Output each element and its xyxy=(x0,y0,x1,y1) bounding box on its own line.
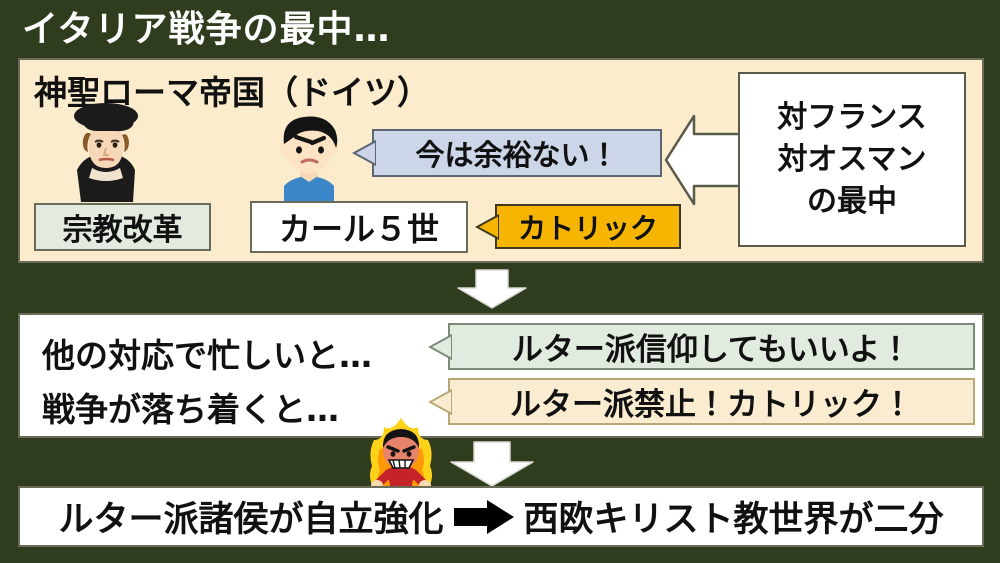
karl-v-label-box: カール５世 xyxy=(250,201,468,253)
ban-lutheranism-text: ルター派禁止！カトリック！ xyxy=(510,379,913,424)
page-title: イタリア戦争の最中… xyxy=(22,8,391,52)
ban-lutheranism-bubble: ルター派禁止！カトリック！ xyxy=(448,378,975,425)
allow-lutheranism-text: ルター派信仰してもいいよ！ xyxy=(512,324,911,369)
wars-line-1: 対フランス xyxy=(777,97,926,139)
karl-speech-bubble: 今は余裕ない！ xyxy=(372,129,662,177)
bubble-tail-icon xyxy=(352,139,376,167)
arrow-down-icon xyxy=(455,268,529,310)
karl-speech-text: 今は余裕ない！ xyxy=(415,132,618,174)
arrow-right-icon xyxy=(454,500,514,534)
conclusion-bar: ルター派諸侯が自立強化 西欧キリスト教世界が二分 xyxy=(18,486,984,547)
arrow-down-icon xyxy=(448,440,536,488)
wars-line-2: 対オスマン xyxy=(777,139,926,181)
bubble-tail-icon xyxy=(475,213,499,241)
conclusion-effect-text: 西欧キリスト教世界が二分 xyxy=(524,491,944,542)
slide-canvas: イタリア戦争の最中… 神聖ローマ帝国（ドイツ） xyxy=(0,0,1000,563)
reformation-label-text: 宗教改革 xyxy=(63,205,183,249)
allow-lutheranism-bubble: ルター派信仰してもいいよ！ xyxy=(448,323,975,370)
karl-v-label-text: カール５世 xyxy=(279,204,439,250)
bubble-tail-icon xyxy=(428,388,452,416)
catholic-tag-text: カトリック xyxy=(518,207,658,247)
annoyed-man-illustration xyxy=(256,104,362,206)
catholic-tag-bubble: カトリック xyxy=(495,204,681,249)
reformation-label-box: 宗教改革 xyxy=(34,203,211,251)
martin-luther-illustration xyxy=(45,98,167,206)
condition-text-1: 他の対応で忙しいと… xyxy=(42,329,372,377)
bubble-tail-icon xyxy=(428,333,452,361)
wars-line-3: の最中 xyxy=(807,181,897,223)
conclusion-cause-text: ルター派諸侯が自立強化 xyxy=(58,491,443,542)
condition-text-2: 戦争が落ち着くと… xyxy=(42,383,339,431)
wars-callout-box: 対フランス 対オスマン の最中 xyxy=(738,72,966,247)
arrow-left-icon xyxy=(664,112,748,208)
